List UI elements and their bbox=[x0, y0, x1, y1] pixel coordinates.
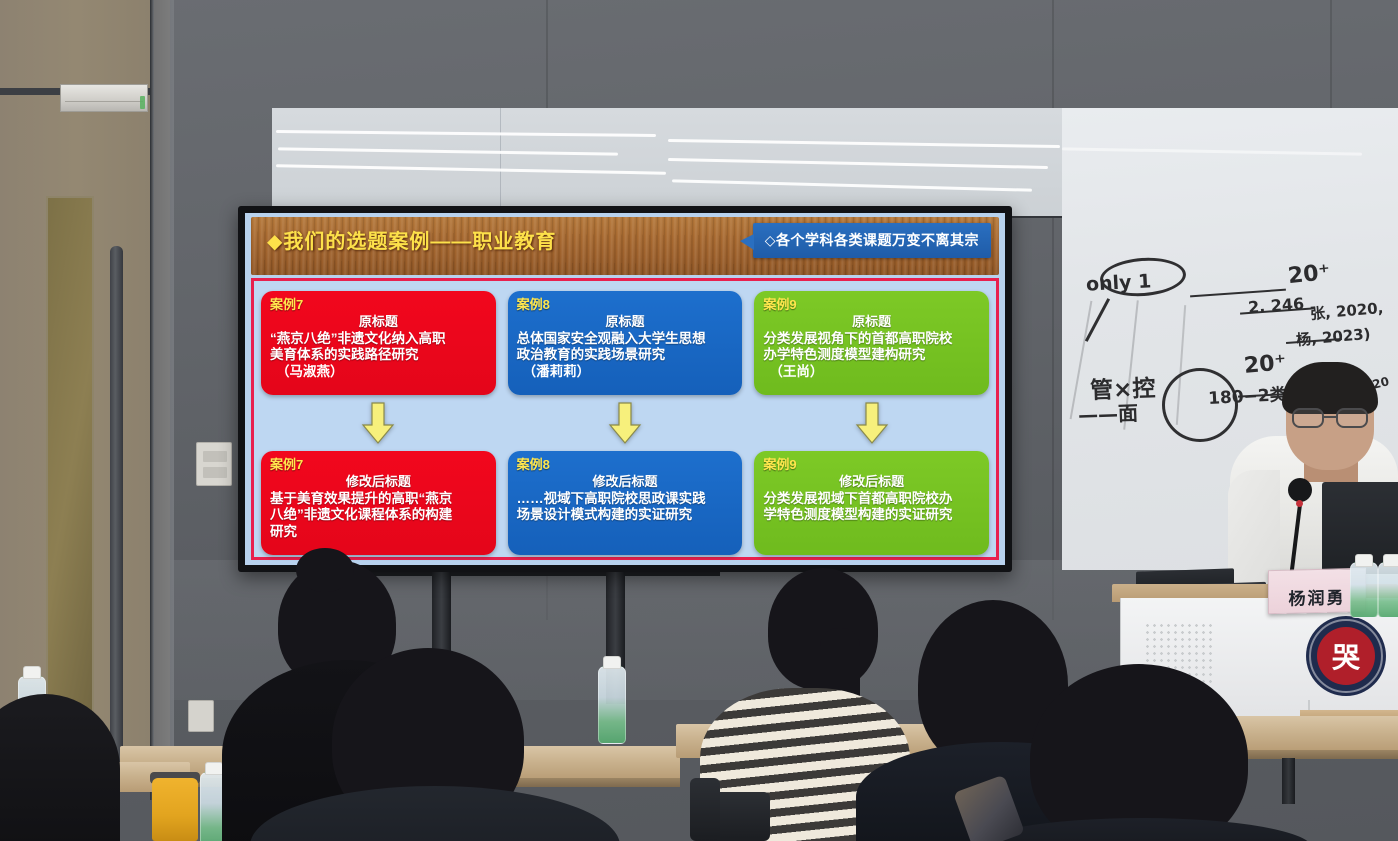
case-tag: 案例9 bbox=[763, 457, 980, 473]
down-arrow-icon bbox=[855, 401, 889, 445]
whiteboard-erased-mark bbox=[672, 179, 1032, 191]
case-heading: 修改后标题 bbox=[517, 474, 734, 490]
whiteboard-handwriting: ——面 bbox=[1078, 397, 1139, 428]
door-glass-panel bbox=[46, 196, 94, 756]
case-line: 基于美育效果提升的高职“燕京 bbox=[270, 491, 487, 507]
whiteboard-erased-mark bbox=[278, 147, 618, 155]
case-line: 八绝”非遗文化课程体系的构建 bbox=[270, 507, 487, 523]
travel-tumbler[interactable] bbox=[152, 778, 198, 841]
down-arrow-icon bbox=[361, 401, 395, 445]
water-bottle[interactable] bbox=[598, 666, 626, 744]
case-line: 场景设计模式构建的实证研究 bbox=[517, 507, 734, 523]
slide-title: ◆我们的选题案例——职业教育 bbox=[267, 225, 556, 254]
door-magnetic-lock bbox=[60, 84, 148, 112]
wall-outlet[interactable] bbox=[196, 442, 232, 486]
case-author: （王尚） bbox=[763, 364, 980, 380]
case-line: 办学特色测度模型建构研究 bbox=[763, 347, 980, 363]
case-heading: 原标题 bbox=[763, 314, 980, 330]
case-line: 总体国家安全观融入大学生思想 bbox=[517, 331, 734, 347]
wall-outlet[interactable] bbox=[188, 700, 214, 732]
case-line: 分类发展视域下首都高职院校办 bbox=[763, 491, 980, 507]
bottle-cap bbox=[603, 656, 621, 669]
case-line: “燕京八绝”非遗文化纳入高职 bbox=[270, 331, 487, 347]
down-arrow-icon bbox=[608, 401, 642, 445]
arrow-cell bbox=[754, 395, 989, 451]
audience-hair-bun bbox=[296, 548, 354, 592]
glass-partition bbox=[154, 0, 174, 800]
case-grid: 案例7 原标题 “燕京八绝”非遗文化纳入高职 美育体系的实践路径研究 （马淑燕）… bbox=[261, 291, 989, 551]
case-card-7-revised[interactable]: 案例7 修改后标题 基于美育效果提升的高职“燕京 八绝”非遗文化课程体系的构建 … bbox=[261, 451, 496, 555]
case-tag: 案例9 bbox=[763, 297, 980, 313]
case-line: 分类发展视角下的首都高职院校 bbox=[763, 331, 980, 347]
speaker-shoulder bbox=[1228, 470, 1280, 586]
bottle-cap bbox=[23, 666, 41, 679]
case-tag: 案例7 bbox=[270, 457, 487, 473]
arrow-cell bbox=[508, 395, 743, 451]
water-bottle[interactable] bbox=[1378, 562, 1398, 618]
case-card-8-original[interactable]: 案例8 原标题 总体国家安全观融入大学生思想 政治教育的实践场景研究 （潘莉莉） bbox=[508, 291, 743, 395]
case-tag: 案例8 bbox=[517, 457, 734, 473]
case-card-8-revised[interactable]: 案例8 修改后标题 ……视域下高职院校思政课实践 场景设计模式构建的实证研究 bbox=[508, 451, 743, 555]
whiteboard-handwriting: 180−2类 bbox=[1207, 380, 1287, 409]
whiteboard-handwriting: 2. 246 bbox=[1247, 294, 1304, 317]
slide-callout-badge: ◇各个学科各类课题万变不离其宗 bbox=[753, 223, 991, 258]
case-heading: 修改后标题 bbox=[270, 474, 487, 490]
whiteboard-erased-mark bbox=[668, 158, 1048, 169]
bottle-cap bbox=[205, 762, 223, 775]
whiteboard-erased-mark bbox=[276, 130, 656, 137]
presentation-room-scene: only 120⁺2. 246张, 2020,杨, 2023)20⁺180−2类… bbox=[0, 0, 1398, 841]
arrow-cell bbox=[261, 395, 496, 451]
water-bottle[interactable] bbox=[1350, 562, 1378, 618]
case-line: 研究 bbox=[270, 524, 487, 540]
institution-logo-icon: 哭 bbox=[1306, 616, 1386, 696]
whiteboard-seam bbox=[500, 108, 501, 216]
chair-frame bbox=[690, 778, 720, 841]
case-card-7-original[interactable]: 案例7 原标题 “燕京八绝”非遗文化纳入高职 美育体系的实践路径研究 （马淑燕） bbox=[261, 291, 496, 395]
case-author: （潘莉莉） bbox=[517, 364, 734, 380]
case-card-9-original[interactable]: 案例9 原标题 分类发展视角下的首都高职院校 办学特色测度模型建构研究 （王尚） bbox=[754, 291, 989, 395]
bottle-cap bbox=[1355, 554, 1373, 567]
table-leg bbox=[1282, 758, 1295, 804]
glasses-icon bbox=[1292, 408, 1374, 428]
whiteboard-erased-mark bbox=[276, 164, 666, 174]
case-card-9-revised[interactable]: 案例9 修改后标题 分类发展视域下首都高职院校办 学特色测度模型构建的实证研究 bbox=[754, 451, 989, 555]
case-tag: 案例7 bbox=[270, 297, 487, 313]
whiteboard-handwriting: 20⁺ bbox=[1287, 260, 1332, 289]
whiteboard-erased-mark bbox=[668, 139, 1060, 148]
case-heading: 原标题 bbox=[517, 314, 734, 330]
door-handle[interactable] bbox=[110, 246, 123, 766]
case-tag: 案例8 bbox=[517, 297, 734, 313]
nameplate-text: 杨润勇 bbox=[1289, 583, 1346, 609]
case-heading: 原标题 bbox=[270, 314, 487, 330]
microphone-icon bbox=[1288, 478, 1312, 502]
whiteboard-handwriting: only 1 bbox=[1085, 270, 1151, 295]
door-status-led-icon bbox=[140, 96, 145, 109]
presentation-slide: ◆我们的选题案例——职业教育 ◇各个学科各类课题万变不离其宗 案例7 原标题 “… bbox=[245, 213, 1005, 565]
audience-member-head bbox=[1030, 664, 1248, 841]
microphone-indicator bbox=[1296, 500, 1303, 507]
whiteboard-upper bbox=[272, 108, 1100, 218]
case-line: 美育体系的实践路径研究 bbox=[270, 347, 487, 363]
case-line: 政治教育的实践场景研究 bbox=[517, 347, 734, 363]
case-heading: 修改后标题 bbox=[763, 474, 980, 490]
case-line: ……视域下高职院校思政课实践 bbox=[517, 491, 734, 507]
display-screen[interactable]: ◆我们的选题案例——职业教育 ◇各个学科各类课题万变不离其宗 案例7 原标题 “… bbox=[238, 206, 1012, 572]
bottle-cap bbox=[1383, 554, 1398, 567]
case-line: 学特色测度模型构建的实证研究 bbox=[763, 507, 980, 523]
whiteboard-handwriting: 20⁺ bbox=[1243, 350, 1287, 379]
wall-seam bbox=[1052, 0, 1054, 620]
case-author: （马淑燕） bbox=[270, 364, 487, 380]
